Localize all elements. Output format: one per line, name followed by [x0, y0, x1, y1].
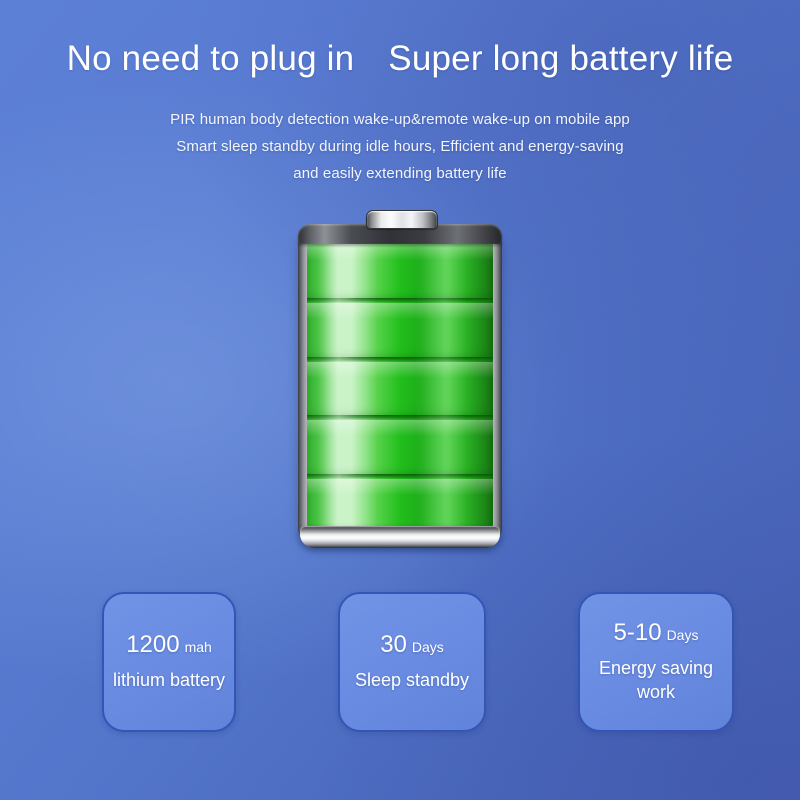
subtitle-line-1: PIR human body detection wake-up&remote … — [0, 106, 800, 133]
stat-card-value-row: 1200mah — [126, 632, 212, 658]
stat-card-value: 1200 — [126, 631, 179, 658]
battery-segment — [307, 415, 493, 474]
battery-segment — [307, 239, 493, 298]
battery-fill-stack — [307, 239, 493, 533]
stat-card-label: Sleep standby — [349, 668, 475, 692]
page-title: No need to plug inSuper long battery lif… — [0, 39, 800, 79]
headline-right: Super long battery life — [388, 39, 733, 78]
subtitle-line-2: Smart sleep standby during idle hours, E… — [0, 133, 800, 160]
battery-segment — [307, 357, 493, 416]
battery-full-icon — [298, 210, 502, 548]
stat-card-unit: Days — [412, 639, 444, 655]
stat-card-battery-capacity: 1200mah lithium battery — [102, 592, 236, 732]
stat-card-unit: mah — [185, 639, 212, 655]
stat-card-energy-saving: 5-10Days Energy saving work — [578, 592, 734, 732]
battery-base — [300, 526, 500, 548]
subtitle-block: PIR human body detection wake-up&remote … — [0, 106, 800, 187]
battery-feature-banner: No need to plug inSuper long battery lif… — [0, 0, 800, 800]
stat-card-value-row: 30Days — [380, 632, 444, 658]
stat-card-label: lithium battery — [107, 668, 231, 692]
stat-card-value-row: 5-10Days — [614, 620, 699, 646]
battery-segment — [307, 474, 493, 533]
battery-segment — [307, 298, 493, 357]
stat-card-unit: Days — [667, 627, 699, 643]
stat-card-value: 5-10 — [614, 619, 662, 646]
stat-card-value: 30 — [380, 631, 407, 658]
stat-card-label: Energy saving work — [580, 656, 732, 704]
headline-left: No need to plug in — [67, 39, 355, 78]
stat-card-row: 1200mah lithium battery 30Days Sleep sta… — [0, 592, 800, 732]
battery-terminal-nub — [366, 210, 438, 229]
subtitle-line-3: and easily extending battery life — [0, 160, 800, 187]
stat-card-sleep-standby: 30Days Sleep standby — [338, 592, 486, 732]
